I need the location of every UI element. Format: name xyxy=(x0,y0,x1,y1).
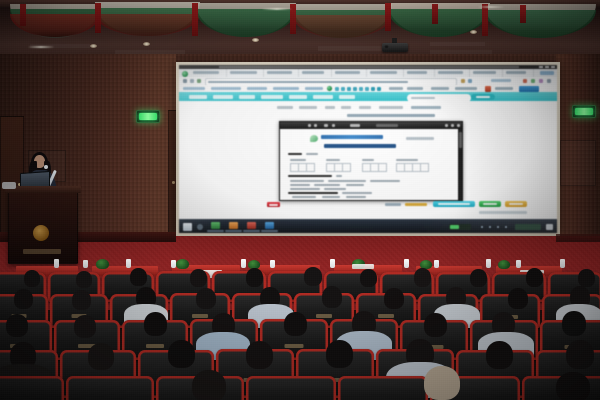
ceiling-light xyxy=(478,6,504,8)
clock-display[interactable] xyxy=(515,224,541,230)
water-cup xyxy=(270,260,275,268)
menu-icon[interactable] xyxy=(539,79,543,83)
form-cell[interactable] xyxy=(342,163,351,172)
document-stamp xyxy=(406,137,434,140)
document-viewer-window[interactable] xyxy=(279,121,463,201)
forward-icon[interactable] xyxy=(190,79,194,83)
audience-head xyxy=(74,315,96,338)
audience-head xyxy=(144,312,167,336)
form-cell[interactable] xyxy=(306,163,315,172)
bookmark-item[interactable] xyxy=(273,87,299,90)
nav-item[interactable] xyxy=(261,95,283,99)
ceiling-panel xyxy=(430,42,485,46)
audience-head xyxy=(360,269,377,287)
audience-head xyxy=(24,270,40,287)
browser-tab[interactable] xyxy=(228,69,264,77)
doc-maximize-icon[interactable] xyxy=(451,124,454,127)
water-cup xyxy=(241,259,246,268)
site-icon[interactable] xyxy=(371,87,375,91)
site-icon[interactable] xyxy=(347,87,351,91)
document-text-line xyxy=(324,188,346,190)
audience-head xyxy=(168,340,195,368)
document-text-line xyxy=(290,180,324,182)
audience-head xyxy=(578,269,595,287)
close-document-button[interactable] xyxy=(267,202,280,207)
page-content xyxy=(179,101,557,219)
water-cup xyxy=(330,259,335,268)
document-section-label xyxy=(288,153,302,155)
audience-head xyxy=(424,313,447,337)
document-text-line xyxy=(314,184,340,186)
projector-lens-icon xyxy=(384,45,389,49)
water-cup xyxy=(54,259,59,268)
audience-head xyxy=(556,372,590,400)
audience-head xyxy=(414,268,431,287)
ribbon-tail xyxy=(192,3,198,36)
site-favicon-icon xyxy=(182,71,188,77)
org-mark-icon xyxy=(327,86,332,91)
audience-head xyxy=(72,290,91,310)
doc-toolbar-icon[interactable] xyxy=(324,124,328,127)
scrollbar-thumb[interactable] xyxy=(459,132,462,148)
doc-zoom-control[interactable] xyxy=(350,124,360,127)
document-text-line xyxy=(290,184,310,186)
tray-icon[interactable] xyxy=(489,226,491,228)
shortcut-4[interactable] xyxy=(265,222,274,229)
browser-tabstrip xyxy=(179,69,557,77)
document-text-line xyxy=(322,196,340,198)
audience-head xyxy=(246,341,273,369)
document-subheading xyxy=(288,175,332,177)
battery-indicator[interactable] xyxy=(449,224,471,230)
org-logo-icon xyxy=(310,135,318,142)
nav-item[interactable] xyxy=(239,95,255,99)
site-icon[interactable] xyxy=(335,87,339,91)
ceiling-downlight xyxy=(470,30,477,34)
shortcut-2[interactable] xyxy=(229,222,238,229)
document-title xyxy=(324,144,396,148)
breadcrumb-segment[interactable] xyxy=(299,106,317,109)
seat[interactable] xyxy=(0,376,64,400)
breadcrumb-segment[interactable] xyxy=(379,106,403,109)
table-plant xyxy=(96,259,109,269)
audience-head xyxy=(190,269,207,287)
form-cell[interactable] xyxy=(378,163,387,172)
seat[interactable] xyxy=(338,376,428,400)
document-page xyxy=(280,129,458,200)
document-org-line xyxy=(321,135,383,139)
audience-head xyxy=(304,267,322,286)
footer-note xyxy=(479,211,527,214)
water-cup xyxy=(516,260,521,268)
projected-desktop xyxy=(179,65,557,233)
wall-panel xyxy=(560,140,596,186)
site-icon[interactable] xyxy=(353,87,357,91)
document-text-line xyxy=(346,184,364,186)
breadcrumb-segment[interactable] xyxy=(411,106,441,109)
doc-title-text xyxy=(376,124,398,127)
primary-action-button[interactable] xyxy=(433,201,475,207)
audience-head xyxy=(526,268,543,287)
document-field-label xyxy=(396,159,418,161)
ceiling xyxy=(0,0,600,62)
back-icon[interactable] xyxy=(183,79,187,83)
taskbar xyxy=(179,219,557,233)
table-plant xyxy=(176,259,189,269)
audience-head xyxy=(486,341,513,369)
audience-head xyxy=(384,288,404,309)
page-heading xyxy=(347,114,435,117)
audience-head xyxy=(424,366,460,400)
titlebar-text xyxy=(219,66,519,68)
water-cup xyxy=(434,260,439,268)
nav-item[interactable] xyxy=(313,95,333,99)
document-text-line xyxy=(342,192,372,194)
podium-item xyxy=(2,182,16,189)
ceiling-downlight xyxy=(252,38,259,42)
profile-icon[interactable] xyxy=(547,79,551,83)
site-icon[interactable] xyxy=(365,87,369,91)
shortcut-1[interactable] xyxy=(211,222,220,229)
reload-icon[interactable] xyxy=(197,79,201,83)
stage-step-right xyxy=(556,234,600,242)
battery-level xyxy=(450,225,459,229)
water-cup xyxy=(126,259,131,268)
ceiling-light xyxy=(28,46,54,48)
tray-icon[interactable] xyxy=(505,226,507,228)
footer-label xyxy=(385,203,401,206)
browser-tab[interactable] xyxy=(436,69,470,77)
search-icon[interactable] xyxy=(197,224,203,230)
site-search-button[interactable] xyxy=(471,94,495,100)
audience-head xyxy=(246,268,263,287)
browser-tab[interactable] xyxy=(191,69,227,77)
document-text-line xyxy=(292,196,316,198)
tertiary-action-button[interactable] xyxy=(505,201,527,207)
ceiling-downlight xyxy=(90,44,97,48)
doc-minimize-icon[interactable] xyxy=(445,124,448,127)
document-subheading xyxy=(288,192,338,194)
address-bar-text xyxy=(208,81,408,83)
breadcrumb-segment[interactable] xyxy=(341,106,351,109)
audience-head xyxy=(326,340,353,368)
ribbon-tail xyxy=(520,5,526,23)
water-cup xyxy=(560,259,565,268)
exit-sign-left-glyph xyxy=(139,113,156,119)
site-menu-item[interactable] xyxy=(407,87,423,90)
bookmark-item[interactable] xyxy=(305,87,323,90)
minimize-icon[interactable] xyxy=(551,66,555,68)
account-label[interactable] xyxy=(495,87,513,90)
show-desktop-button[interactable] xyxy=(546,224,553,230)
table-plant xyxy=(498,260,510,269)
audience-head xyxy=(322,286,342,308)
extension-bar[interactable] xyxy=(491,79,511,82)
doc-toolbar-icon[interactable] xyxy=(308,124,311,127)
ribbon-tail xyxy=(385,3,391,31)
document-field-label xyxy=(362,159,374,161)
projection-screen-frame xyxy=(176,62,560,236)
login-button[interactable] xyxy=(519,86,539,92)
ribbon-tail xyxy=(432,4,438,24)
nav-item[interactable] xyxy=(339,95,355,99)
water-cup xyxy=(486,259,491,268)
favorite-icon[interactable] xyxy=(461,79,465,83)
tray-icon[interactable] xyxy=(497,226,499,228)
secondary-action-button[interactable] xyxy=(479,201,501,207)
audience-area xyxy=(0,254,600,400)
document-text-line xyxy=(346,196,366,198)
document-text-line xyxy=(290,188,320,190)
doc-close-icon[interactable] xyxy=(457,124,460,127)
print-icon[interactable] xyxy=(523,79,527,83)
ceiling-light xyxy=(262,8,292,10)
breadcrumb-segment[interactable] xyxy=(359,106,371,109)
audience-head xyxy=(130,268,147,286)
audience-head xyxy=(196,288,216,309)
water-cup xyxy=(83,260,88,268)
browser-tab[interactable] xyxy=(504,69,534,77)
site-nav-bar xyxy=(179,92,557,101)
shortcut-1-label xyxy=(207,230,224,232)
seat[interactable] xyxy=(246,376,336,400)
podium-top-surface xyxy=(5,186,81,193)
document-window-titlebar xyxy=(280,122,462,129)
site-menu-item[interactable] xyxy=(455,87,477,90)
water-cup xyxy=(404,259,409,268)
ribbon-tail xyxy=(482,4,488,36)
settings-icon[interactable] xyxy=(531,79,535,83)
shortcut-2-label xyxy=(225,230,242,232)
browser-tab[interactable] xyxy=(471,69,503,77)
door-knob-icon xyxy=(172,181,175,184)
auditorium-scene xyxy=(0,0,600,400)
shortcut-3-label xyxy=(243,230,260,232)
site-menu-item[interactable] xyxy=(431,87,449,90)
maximize-icon[interactable] xyxy=(545,66,549,68)
bookmark-item[interactable] xyxy=(183,87,205,90)
podium xyxy=(8,188,78,264)
exit-sign-right-glyph xyxy=(575,108,592,114)
tray-icon[interactable] xyxy=(481,226,483,228)
exit-sign-left xyxy=(136,110,160,123)
browser-tab[interactable] xyxy=(405,69,435,77)
browser-tab[interactable] xyxy=(333,69,367,77)
audience-head xyxy=(192,370,226,400)
audience-head xyxy=(284,312,307,336)
ceiling-projector xyxy=(382,38,408,54)
site-menu-item[interactable] xyxy=(389,87,403,90)
shortcut-4-label xyxy=(261,230,278,232)
audience-head xyxy=(470,269,487,287)
microphone-head-icon xyxy=(44,165,48,169)
ceiling-swag xyxy=(95,2,200,36)
site-icon[interactable] xyxy=(359,87,363,91)
footer-highlight xyxy=(405,203,427,206)
audience-head xyxy=(6,314,28,337)
user-avatar[interactable] xyxy=(485,86,491,92)
audience-head xyxy=(76,271,92,288)
browser-tab[interactable] xyxy=(265,69,299,77)
ceiling-panel xyxy=(318,46,388,51)
audience-head xyxy=(88,343,114,370)
bookmark-item[interactable] xyxy=(247,87,267,90)
document-text-line xyxy=(336,175,342,177)
audience-head xyxy=(566,340,594,369)
nav-item[interactable] xyxy=(213,95,233,99)
new-tab-button[interactable] xyxy=(540,71,554,75)
browser-tab[interactable] xyxy=(300,69,332,77)
document-scrollbar[interactable] xyxy=(458,129,462,200)
site-icon[interactable] xyxy=(377,87,381,91)
ceiling-downlight xyxy=(143,42,150,46)
document-text-line xyxy=(306,153,318,155)
audience-head xyxy=(14,289,33,309)
document-text-line xyxy=(328,180,366,182)
audience-head xyxy=(562,311,586,336)
doc-toolbar-icon[interactable] xyxy=(332,124,335,127)
ribbon-tail xyxy=(95,3,101,33)
breadcrumb-segment[interactable] xyxy=(277,106,293,109)
start-button[interactable] xyxy=(183,223,192,231)
exit-sign-right xyxy=(572,105,596,118)
ribbon-tail xyxy=(20,4,26,26)
download-icon[interactable] xyxy=(468,79,472,83)
ceiling-swag xyxy=(484,4,596,38)
document-field-label xyxy=(326,159,340,161)
ceiling-swag xyxy=(292,4,392,38)
form-cell[interactable] xyxy=(420,163,429,172)
browser-tab[interactable] xyxy=(368,69,404,77)
bookmark-item[interactable] xyxy=(211,87,241,90)
podium-emblem xyxy=(33,225,49,241)
nav-item[interactable] xyxy=(289,95,307,99)
seat[interactable] xyxy=(66,376,154,400)
doc-toolbar-icon[interactable] xyxy=(314,124,317,127)
site-icon[interactable] xyxy=(341,87,345,91)
document-text-line xyxy=(370,180,400,182)
breadcrumb-segment[interactable] xyxy=(325,106,335,109)
audience-head xyxy=(508,288,528,309)
site-search-placeholder xyxy=(411,97,435,99)
nav-item[interactable] xyxy=(189,95,207,99)
close-icon[interactable] xyxy=(539,66,543,68)
document-field-label xyxy=(290,159,306,161)
shortcut-3[interactable] xyxy=(247,222,256,229)
